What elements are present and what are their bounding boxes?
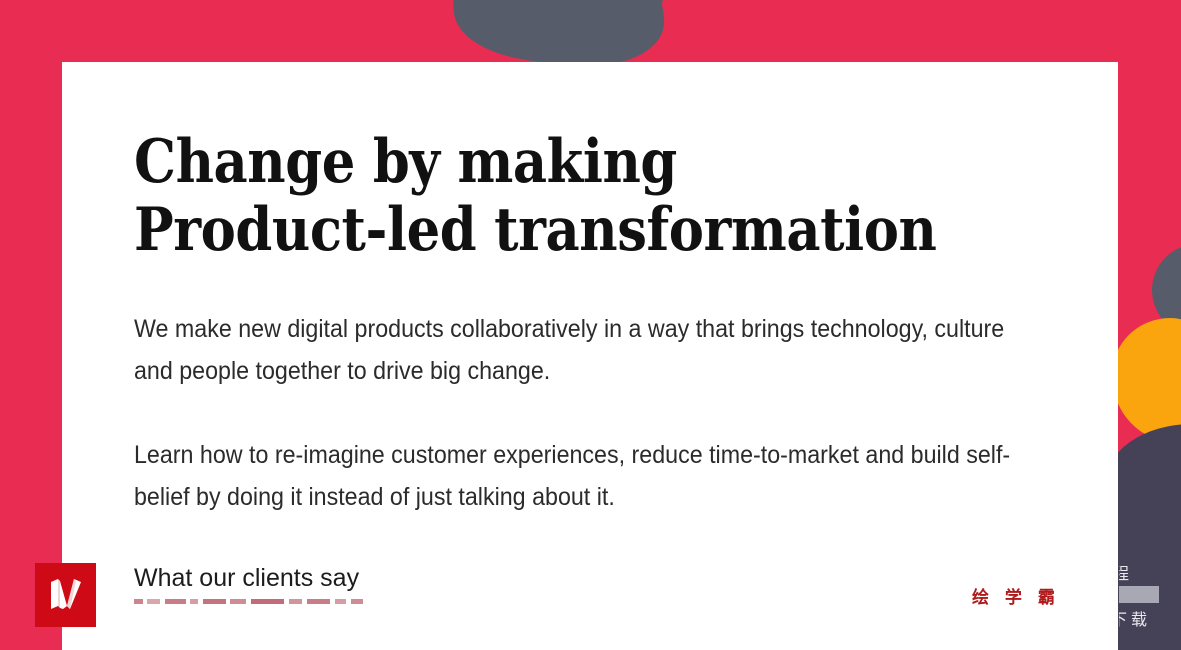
card-top-divider <box>62 62 1118 63</box>
secondary-paragraph: Learn how to re-imagine customer experie… <box>134 434 1012 518</box>
right-side-panel: 程 下载 <box>1119 542 1181 650</box>
clients-testimonials-link[interactable]: What our clients say <box>134 562 359 594</box>
orange-blob-right-shape <box>1112 318 1181 442</box>
slide-canvas: Change by making Product-led transformat… <box>0 0 1181 650</box>
panel-course-label[interactable]: 程 <box>1119 560 1135 584</box>
page-title: Change by making Product-led transformat… <box>134 128 965 264</box>
clients-link-container[interactable]: What our clients say <box>134 562 363 604</box>
card-content: Change by making Product-led transformat… <box>134 128 1078 604</box>
watermark-text: 绘 学 霸 <box>972 583 1060 608</box>
panel-button-chip[interactable] <box>1119 586 1159 603</box>
sketch-underline <box>134 599 363 604</box>
gray-circle-right-shape <box>1152 244 1181 336</box>
panel-download-label[interactable]: 下载 <box>1119 606 1151 630</box>
intro-paragraph: We make new digital products collaborati… <box>134 308 1012 392</box>
gray-blob-top-secondary-shape <box>536 0 664 64</box>
w-monogram-icon <box>46 575 86 615</box>
brand-logo[interactable] <box>35 563 96 627</box>
content-card: Change by making Product-led transformat… <box>62 62 1118 650</box>
